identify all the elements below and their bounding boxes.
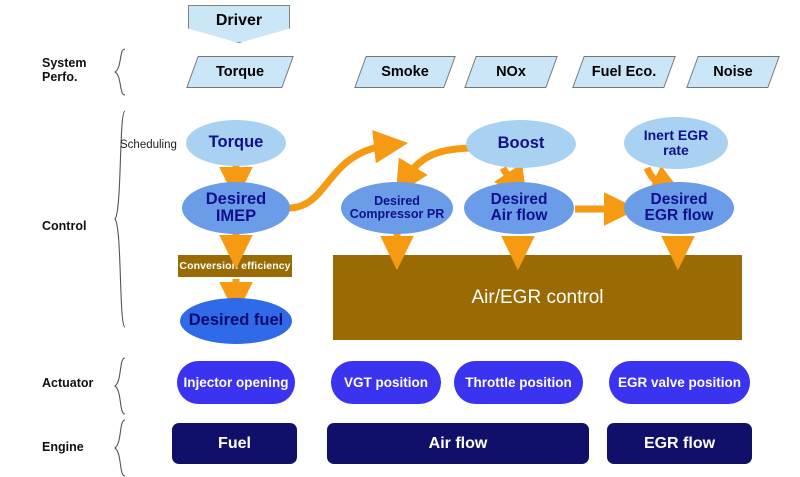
actuator-injector-opening[interactable]: Injector opening xyxy=(177,361,295,404)
engine-fuel-label: Fuel xyxy=(218,435,251,453)
perf-torque[interactable]: Torque xyxy=(192,56,288,88)
perf-smoke-label: Smoke xyxy=(381,64,429,80)
row-label-actuator: Actuator xyxy=(42,376,112,390)
actuator-egr-valve-position[interactable]: EGR valve position xyxy=(609,361,750,404)
engine-egr-flow-label: EGR flow xyxy=(644,435,715,453)
brace-engine xyxy=(112,419,128,477)
perf-noise[interactable]: Noise xyxy=(692,56,774,88)
conversion-efficiency-label: Conversion efficiency xyxy=(179,260,290,272)
engine-egr-flow[interactable]: EGR flow xyxy=(607,423,752,464)
perf-fuel-eco[interactable]: Fuel Eco. xyxy=(578,56,670,88)
engine-air-flow[interactable]: Air flow xyxy=(327,423,589,464)
perf-nox-label: NOx xyxy=(496,64,526,80)
perf-smoke[interactable]: Smoke xyxy=(360,56,450,88)
row-label-engine: Engine xyxy=(42,440,112,454)
engine-air-flow-label: Air flow xyxy=(429,435,488,453)
node-desired-imep[interactable]: Desired IMEP xyxy=(182,182,290,234)
actuator-throttle-position[interactable]: Throttle position xyxy=(454,361,583,404)
arrow-boost-to-compressor-pr xyxy=(405,148,476,180)
node-boost-label: Boost xyxy=(498,135,545,152)
node-desired-imep-label: Desired IMEP xyxy=(206,191,267,226)
perf-torque-label: Torque xyxy=(216,64,264,80)
row-label-control: Control xyxy=(42,219,112,233)
node-desired-air-flow[interactable]: Desired Air flow xyxy=(464,182,574,234)
air-egr-control-box[interactable]: Air/EGR control xyxy=(333,255,742,340)
node-desired-fuel-label: Desired fuel xyxy=(189,312,283,329)
actuator-throttle-position-label: Throttle position xyxy=(465,375,571,390)
driver-label: Driver xyxy=(216,12,262,30)
actuator-vgt-position-label: VGT position xyxy=(344,375,428,390)
perf-nox[interactable]: NOx xyxy=(470,56,552,88)
driver-shape[interactable]: Driver xyxy=(188,5,290,43)
node-desired-egr-flow[interactable]: Desired EGR flow xyxy=(624,182,734,234)
node-desired-fuel[interactable]: Desired fuel xyxy=(180,298,292,344)
node-desired-compressor-pr-label: Desired Compressor PR xyxy=(350,195,444,221)
row-label-system-perfo: System Perfo. xyxy=(42,56,112,84)
perf-fuel-eco-label: Fuel Eco. xyxy=(592,64,656,80)
node-boost[interactable]: Boost xyxy=(466,120,576,168)
actuator-vgt-position[interactable]: VGT position xyxy=(331,361,441,404)
node-desired-compressor-pr[interactable]: Desired Compressor PR xyxy=(341,182,453,234)
node-torque-label: Torque xyxy=(209,134,264,151)
node-desired-air-flow-label: Desired Air flow xyxy=(491,192,548,225)
air-egr-control-label: Air/EGR control xyxy=(472,287,604,309)
node-desired-egr-flow-label: Desired EGR flow xyxy=(645,192,714,225)
diagram-canvas: System Perfo. Control Scheduling Actuato… xyxy=(0,0,800,477)
perf-noise-label: Noise xyxy=(713,64,753,80)
node-torque[interactable]: Torque xyxy=(186,120,286,166)
actuator-injector-opening-label: Injector opening xyxy=(183,375,288,390)
conversion-efficiency-box[interactable]: Conversion efficiency xyxy=(178,255,292,277)
brace-actuator xyxy=(112,357,128,415)
node-inert-egr-rate-label: Inert EGR rate xyxy=(644,128,709,157)
actuator-egr-valve-position-label: EGR valve position xyxy=(618,375,741,390)
engine-fuel[interactable]: Fuel xyxy=(172,423,297,464)
node-inert-egr-rate[interactable]: Inert EGR rate xyxy=(624,117,728,169)
control-sublabel-scheduling: Scheduling xyxy=(120,139,177,151)
brace-system-perfo xyxy=(112,48,128,96)
